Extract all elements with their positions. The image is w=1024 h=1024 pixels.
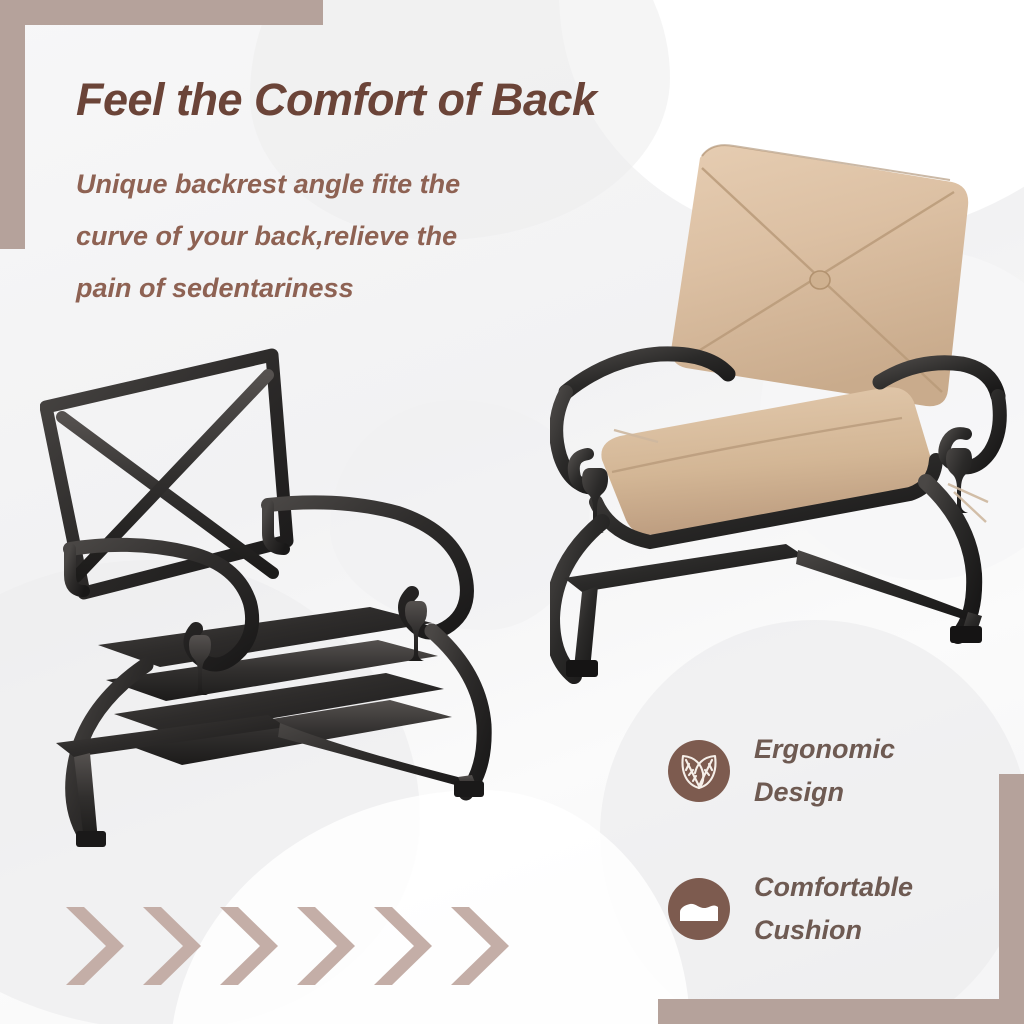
subtitle: Unique backrest angle fite the curve of … xyxy=(76,158,596,314)
feature-item-ergonomic-design: Ergonomic Design xyxy=(668,728,978,814)
cushion-icon xyxy=(668,878,730,940)
subtitle-line-2: curve of your back,relieve the xyxy=(76,210,596,262)
feature-label-line-1: Comfortable xyxy=(754,866,969,909)
corner-frame-bottom-right xyxy=(999,774,1024,1024)
chevron-right-icon xyxy=(370,905,436,987)
chevron-arrow-group xyxy=(62,905,482,987)
feature-label-line-2: Cushion xyxy=(754,909,969,952)
feature-label: Comfortable Cushion xyxy=(754,866,969,952)
chair-spring-leg-right xyxy=(432,631,484,793)
feature-label: Ergonomic Design xyxy=(754,728,969,814)
feature-item-comfortable-cushion: Comfortable Cushion xyxy=(668,866,978,952)
feature-list: Ergonomic Design Comfortable Cushion xyxy=(668,728,978,1004)
chevron-right-icon xyxy=(447,905,513,987)
subtitle-line-3: pain of sedentariness xyxy=(76,262,596,314)
product-feature-banner: Feel the Comfort of Back Unique backrest… xyxy=(0,0,1024,1024)
leaf-icon xyxy=(668,740,730,802)
chevron-right-icon xyxy=(293,905,359,987)
subtitle-line-1: Unique backrest angle fite the xyxy=(76,158,596,210)
sled-base xyxy=(564,544,982,677)
seat-cushion xyxy=(601,387,932,534)
corner-frame-top-left xyxy=(0,0,323,25)
metal-frame-chair-image xyxy=(40,345,510,855)
chevron-right-icon xyxy=(216,905,282,987)
cushioned-chair-image xyxy=(550,130,1010,690)
feature-label-line-1: Ergonomic xyxy=(754,728,969,771)
chevron-right-icon xyxy=(62,905,128,987)
page-title: Feel the Comfort of Back xyxy=(76,74,597,126)
chevron-right-icon xyxy=(139,905,205,987)
feature-label-line-2: Design xyxy=(754,771,969,814)
chair-backrest-frame xyxy=(46,355,287,593)
corner-frame-top-left xyxy=(0,0,25,249)
